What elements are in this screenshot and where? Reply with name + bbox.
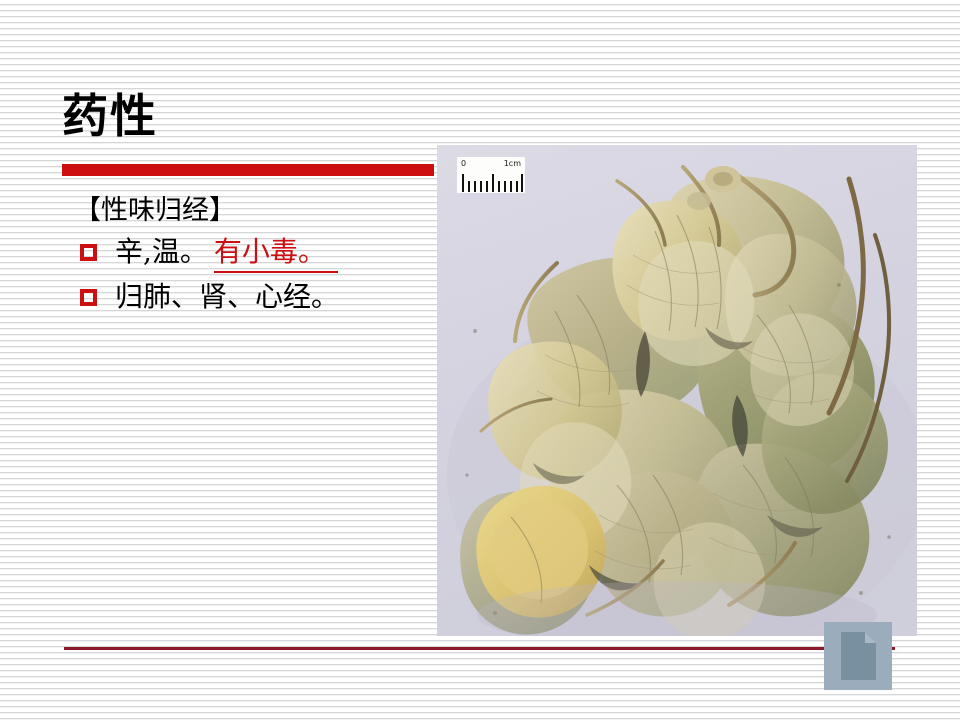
list-item: 辛,温。有小毒。 bbox=[74, 234, 444, 273]
list-item-text: 归肺、肾、心经。 bbox=[115, 279, 339, 315]
scale-bar-ticks bbox=[460, 172, 522, 192]
specimen-photo-artwork bbox=[437, 145, 917, 636]
scale-bar-right-label: 1cm bbox=[504, 159, 521, 169]
page-document-icon[interactable] bbox=[824, 622, 892, 690]
list-item-warning-text: 有小毒。 bbox=[214, 234, 338, 273]
list-item-plain-text: 辛,温。 bbox=[115, 235, 208, 268]
list-item-text: 辛,温。有小毒。 bbox=[115, 234, 338, 273]
title-underline-bar bbox=[62, 164, 434, 176]
slide-canvas: 药性 【性味归经】 辛,温。有小毒。 归肺、肾、心经。 bbox=[0, 0, 960, 720]
scale-bar-labels: 0 1cm bbox=[460, 159, 522, 171]
page-sheet-glyph bbox=[841, 632, 876, 680]
footer-divider bbox=[64, 647, 895, 650]
list-item-plain-text: 归肺、肾、心经。 bbox=[115, 280, 339, 313]
bullet-list: 辛,温。有小毒。 归肺、肾、心经。 bbox=[74, 234, 444, 315]
content-block: 【性味归经】 辛,温。有小毒。 归肺、肾、心经。 bbox=[74, 194, 444, 321]
scale-bar: 0 1cm bbox=[457, 157, 525, 193]
scale-bar-left-label: 0 bbox=[461, 159, 466, 169]
specimen-photo: 0 1cm bbox=[437, 145, 917, 636]
section-heading: 【性味归经】 bbox=[74, 194, 444, 228]
list-item: 归肺、肾、心经。 bbox=[74, 279, 444, 315]
title-block: 药性 bbox=[62, 92, 442, 142]
page-title: 药性 bbox=[62, 92, 442, 142]
square-bullet-icon bbox=[80, 289, 97, 306]
square-bullet-icon bbox=[80, 244, 97, 261]
